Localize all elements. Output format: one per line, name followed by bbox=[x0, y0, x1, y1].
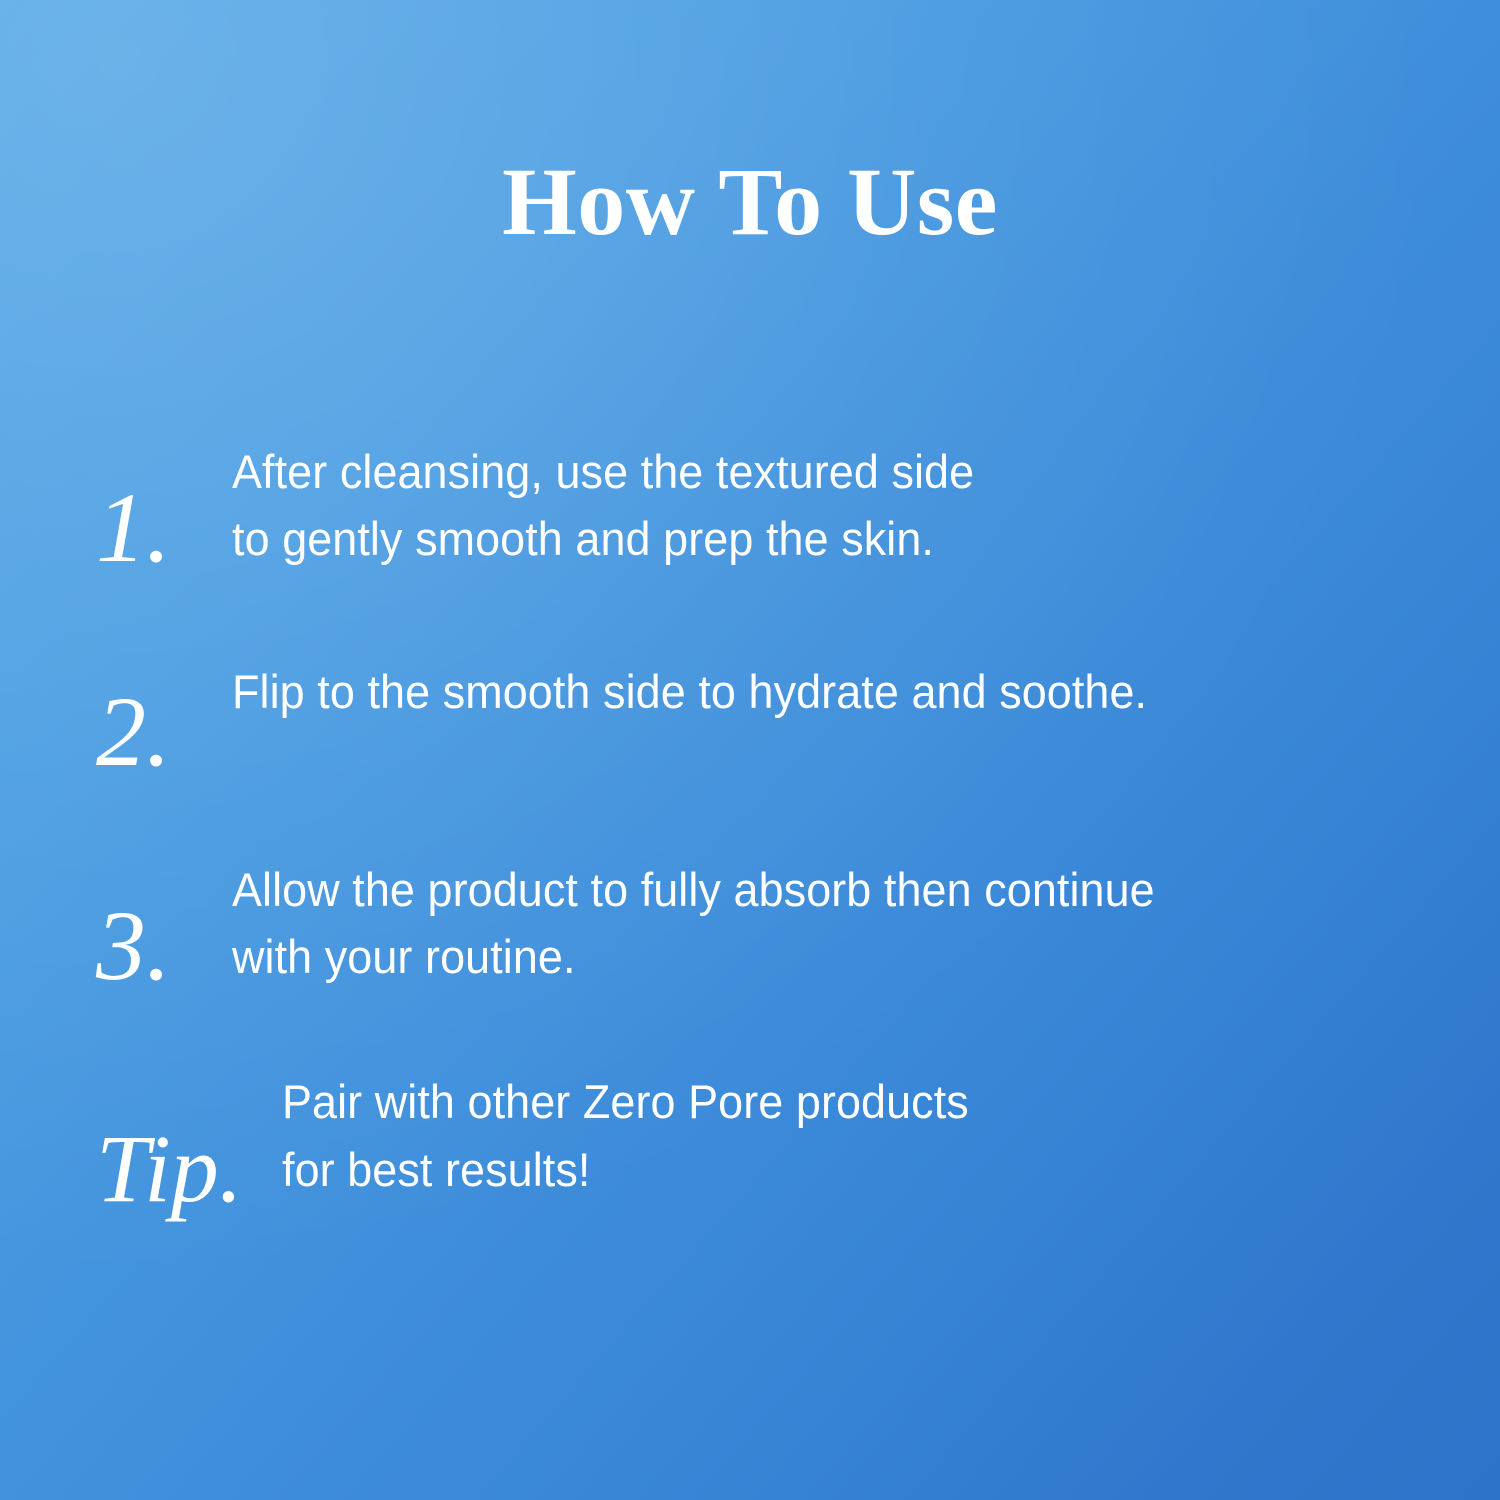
steps-list: 1. After cleansing, use the textured sid… bbox=[96, 438, 1416, 1203]
step-text-line: Pair with other Zero Pore products bbox=[282, 1068, 1365, 1135]
step-text-line: Flip to the smooth side to hydrate and s… bbox=[232, 658, 1363, 725]
step-text-3: Allow the product to fully absorb then c… bbox=[232, 856, 1363, 990]
step-marker-tip: Tip. bbox=[96, 1121, 286, 1217]
step-item-2: 2. Flip to the smooth side to hydrate an… bbox=[96, 658, 1416, 776]
step-item-tip: Tip. Pair with other Zero Pore products … bbox=[96, 1068, 1416, 1202]
step-text-line: Allow the product to fully absorb then c… bbox=[232, 856, 1363, 923]
step-item-3: 3. Allow the product to fully absorb the… bbox=[96, 856, 1416, 990]
step-text-tip: Pair with other Zero Pore products for b… bbox=[282, 1068, 1365, 1202]
step-text-2: Flip to the smooth side to hydrate and s… bbox=[232, 658, 1363, 725]
step-text-line: with your routine. bbox=[232, 923, 1363, 990]
step-item-1: 1. After cleansing, use the textured sid… bbox=[96, 438, 1416, 572]
step-marker-2: 2. bbox=[96, 682, 246, 782]
step-text-1: After cleansing, use the textured side t… bbox=[232, 438, 1363, 572]
how-to-use-poster: How To Use 1. After cleansing, use the t… bbox=[0, 0, 1500, 1500]
page-title: How To Use bbox=[0, 150, 1500, 254]
step-text-line: for best results! bbox=[282, 1136, 1365, 1203]
step-marker-3: 3. bbox=[96, 896, 246, 996]
step-text-line: to gently smooth and prep the skin. bbox=[232, 505, 1363, 572]
step-marker-1: 1. bbox=[96, 478, 246, 578]
step-text-line: After cleansing, use the textured side bbox=[232, 438, 1363, 505]
